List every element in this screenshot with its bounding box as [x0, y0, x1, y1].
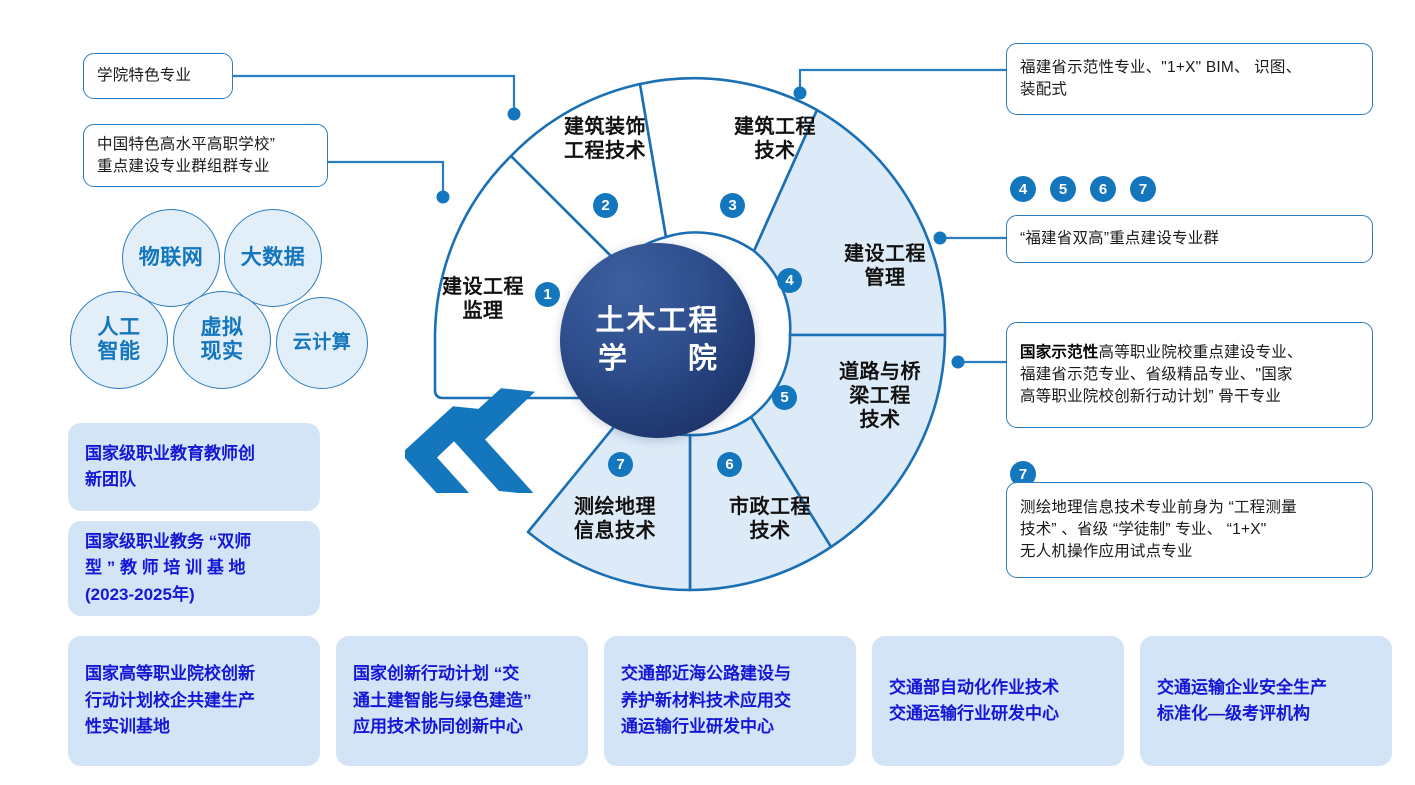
wheel-label-2: 建筑装饰 工程技术 — [525, 115, 685, 163]
infographic-canvas: 建设工程 监理 建筑装饰 工程技术 建筑工程 技术 建设工程 管理 道路与桥 梁… — [0, 0, 1415, 785]
wheel-label-3: 建筑工程 技术 — [695, 115, 855, 163]
bluebox-bottom-5[interactable]: 交通运输企业安全生产 标准化—级考评机构 — [1140, 636, 1392, 766]
bluebox-dual-teacher-base[interactable]: 国家级职业教务 “双师 型 ” 教 师 培 训 基 地 (2023-2025年) — [68, 521, 320, 616]
callout-5-line-1: 国家示范性高等职业院校重点建设专业、 — [1020, 342, 1303, 364]
bubble-iot[interactable]: 物联网 — [122, 209, 220, 307]
bubble-vr[interactable]: 虚拟 现实 — [173, 291, 271, 389]
callout-fujian-demonstration-major[interactable]: 福建省示范性专业、"1+X" BIM、 识图、 装配式 — [1006, 43, 1373, 115]
bluebox-bottom-1[interactable]: 国家高等职业院校创新 行动计划校企共建生产 性实训基地 — [68, 636, 320, 766]
wheel-label-4: 建设工程 管理 — [805, 242, 965, 290]
wheel-badge-6: 6 — [717, 452, 742, 477]
double-chevron-left-icon — [405, 378, 555, 493]
badge-6: 6 — [1090, 176, 1116, 202]
bubble-cloud[interactable]: 云计算 — [276, 297, 368, 389]
bubble-bigdata[interactable]: 大数据 — [224, 209, 322, 307]
bluebox-bottom-2[interactable]: 国家创新行动计划 “交 通土建智能与绿色建造” 应用技术协同创新中心 — [336, 636, 588, 766]
callout-fujian-shuanggao[interactable]: “福建省双高”重点建设专业群 — [1006, 215, 1373, 263]
callout-surveying-history[interactable]: 测绘地理信息技术专业前身为 “工程测量 技术” 、省级 “学徒制” 专业、 “1… — [1006, 482, 1373, 578]
callout-high-level-vocational[interactable]: 中国特色高水平高职学校” 重点建设专业群组群专业 — [83, 124, 328, 187]
badge-7-group: 7 — [1130, 176, 1156, 202]
wheel-label-6: 市政工程 技术 — [695, 495, 845, 543]
wheel-badge-4: 4 — [777, 268, 802, 293]
wheel-label-5: 道路与桥 梁工程 技术 — [810, 360, 950, 432]
callout-national-demonstration[interactable]: 国家示范性高等职业院校重点建设专业、 福建省示范专业、省级精品专业、"国家 高等… — [1006, 322, 1373, 428]
badge-5: 5 — [1050, 176, 1076, 202]
callout-school-featured-major[interactable]: 学院特色专业 — [83, 53, 233, 99]
bubble-ai[interactable]: 人工 智能 — [70, 291, 168, 389]
bluebox-teacher-innovation-team[interactable]: 国家级职业教育教师创 新团队 — [68, 423, 320, 511]
bluebox-bottom-3[interactable]: 交通部近海公路建设与 养护新材料技术应用交 通运输行业研发中心 — [604, 636, 856, 766]
wheel-label-7: 测绘地理 信息技术 — [535, 495, 695, 543]
wheel-badge-2: 2 — [593, 193, 618, 218]
wheel-badge-5: 5 — [772, 385, 797, 410]
wheel-badge-3: 3 — [720, 193, 745, 218]
hub-line-2: 学 院 — [582, 341, 733, 378]
badge-4: 4 — [1010, 176, 1036, 202]
hub-circle[interactable]: 土木工程 学 院 — [560, 243, 755, 438]
bluebox-bottom-4[interactable]: 交通部自动化作业技术 交通运输行业研发中心 — [872, 636, 1124, 766]
callout-4-badge-row: 4 5 6 7 — [1010, 176, 1156, 202]
hub-line-1: 土木工程 — [595, 303, 719, 340]
wheel-badge-1: 1 — [535, 282, 560, 307]
wheel-badge-7: 7 — [608, 452, 633, 477]
